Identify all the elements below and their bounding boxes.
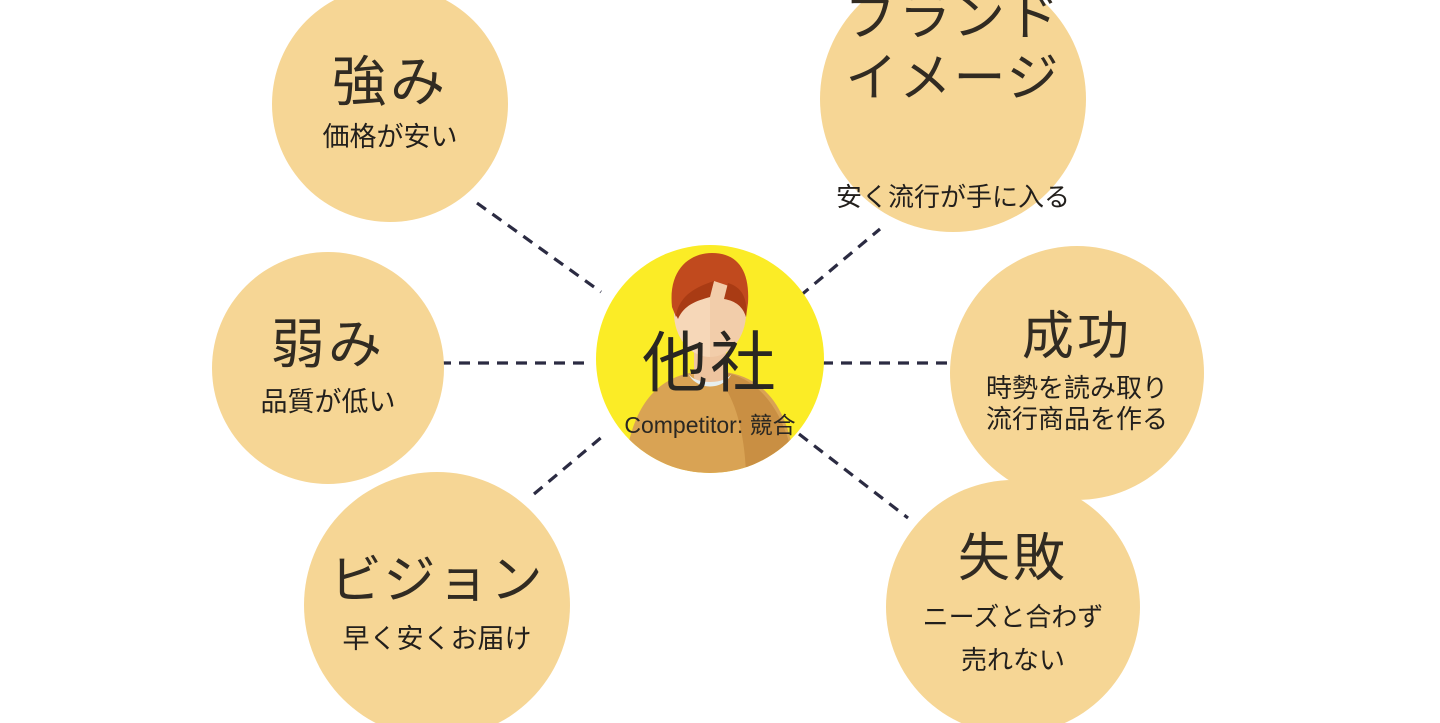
node-center-competitor[interactable]: 他社 Competitor: 競合 (596, 245, 824, 473)
node-success-subtitle: 時勢を読み取り 流行商品を作る (986, 373, 1168, 436)
diagram-canvas: 強み 価格が安い ブランド イメージ 安く流行が手に入る 弱み 品質が低い 成功… (0, 0, 1440, 723)
node-weakness-subtitle: 品質が低い (261, 386, 396, 419)
node-success-title: 成功 (1022, 310, 1132, 365)
node-vision[interactable]: ビジョン 早く安くお届け (304, 472, 570, 723)
connector-center-vision (534, 436, 603, 494)
node-strength-subtitle: 価格が安い (323, 121, 458, 154)
connector-center-strength (477, 203, 601, 292)
node-vision-subtitle: 早く安くお届け (343, 623, 532, 656)
node-failure-title: 失敗 (958, 532, 1068, 587)
node-strength[interactable]: 強み 価格が安い (272, 0, 508, 222)
node-weakness-title: 弱み (271, 317, 385, 374)
node-vision-title: ビジョン (330, 554, 544, 609)
node-failure-subtitle: ニーズと合わず 売れない (923, 596, 1104, 682)
node-weakness[interactable]: 弱み 品質が低い (212, 252, 444, 484)
node-brand-image-subtitle: 安く流行が手に入る (788, 182, 1118, 214)
node-center-title: 他社 (642, 330, 778, 396)
node-success[interactable]: 成功 時勢を読み取り 流行商品を作る (950, 246, 1204, 500)
node-strength-title: 強み (332, 54, 449, 112)
node-center-subtitle: Competitor: 競合 (624, 406, 795, 440)
node-failure[interactable]: 失敗 ニーズと合わず 売れない (886, 480, 1140, 723)
node-brand-image[interactable]: ブランド イメージ 安く流行が手に入る (820, 0, 1086, 232)
node-center-labels: 他社 Competitor: 競合 (596, 245, 824, 473)
node-brand-image-title: ブランド イメージ (845, 0, 1061, 110)
